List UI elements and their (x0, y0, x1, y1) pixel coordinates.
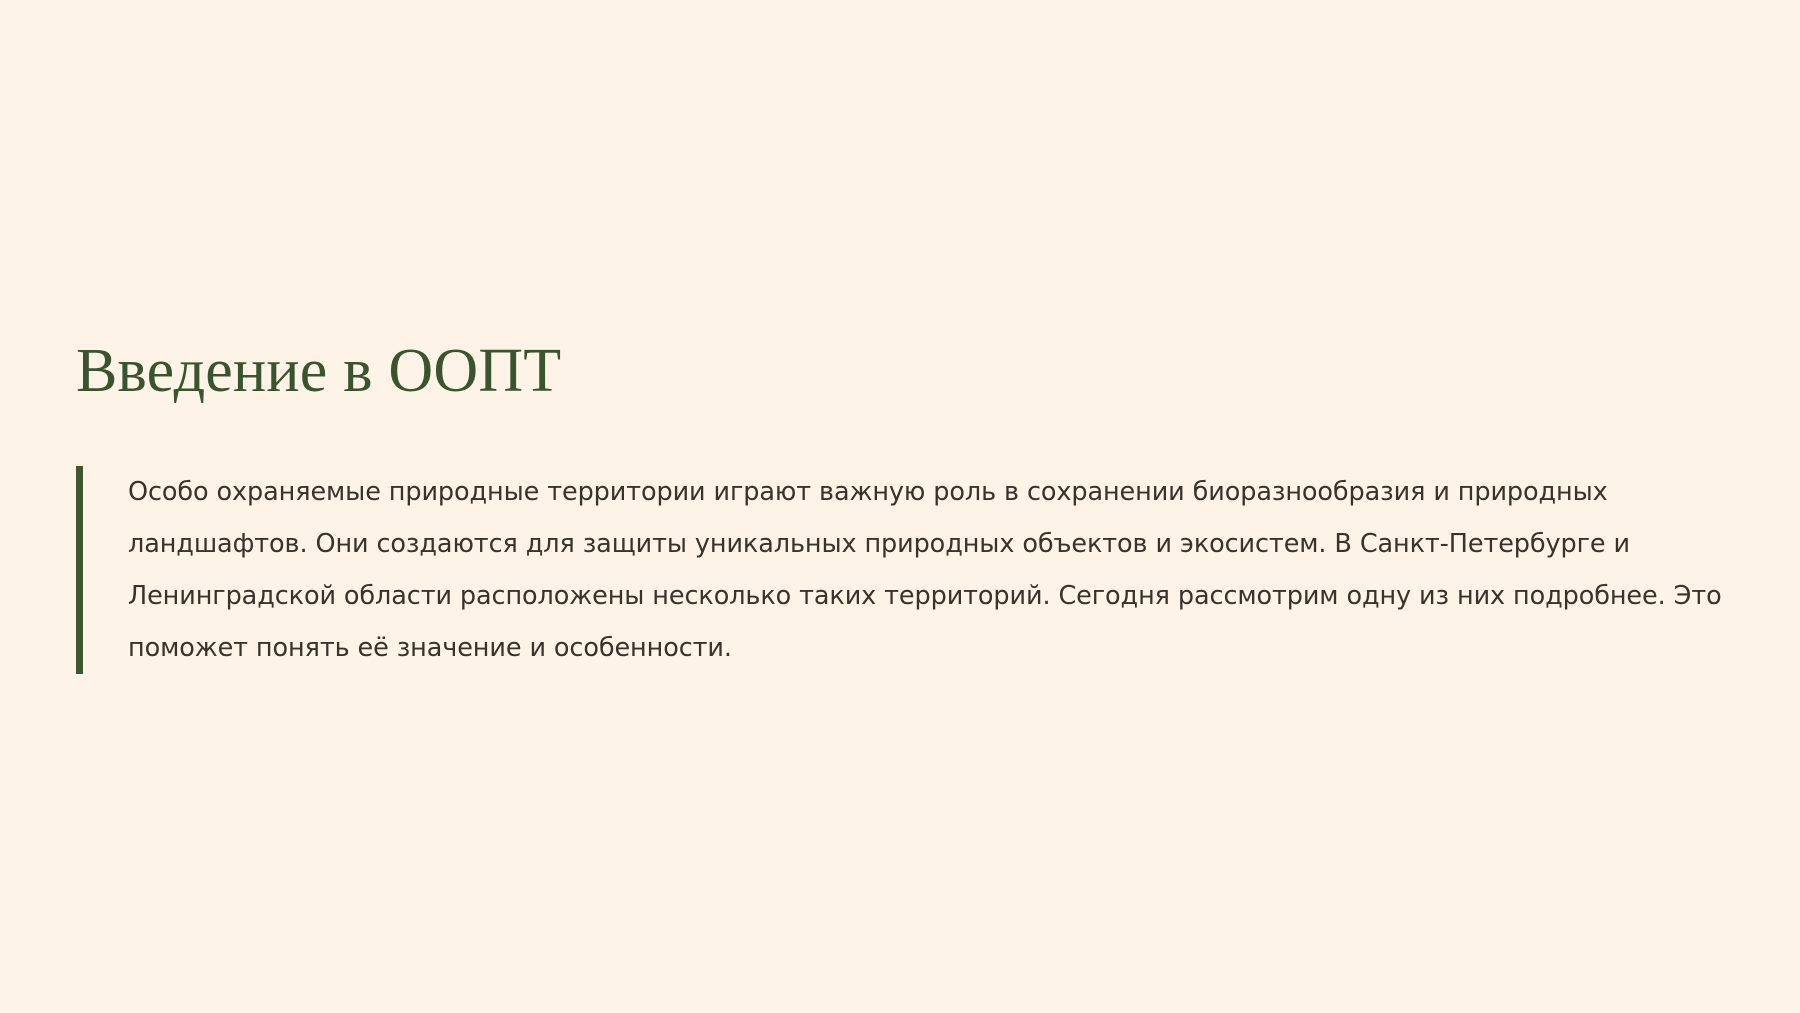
page-title: Введение в ООПТ (76, 337, 561, 406)
body-callout: Особо охраняемые природные территории иг… (76, 466, 1736, 674)
body-paragraph: Особо охраняемые природные территории иг… (83, 466, 1736, 674)
slide-canvas: Введение в ООПТ Особо охраняемые природн… (0, 0, 1800, 1013)
accent-bar (76, 466, 83, 674)
